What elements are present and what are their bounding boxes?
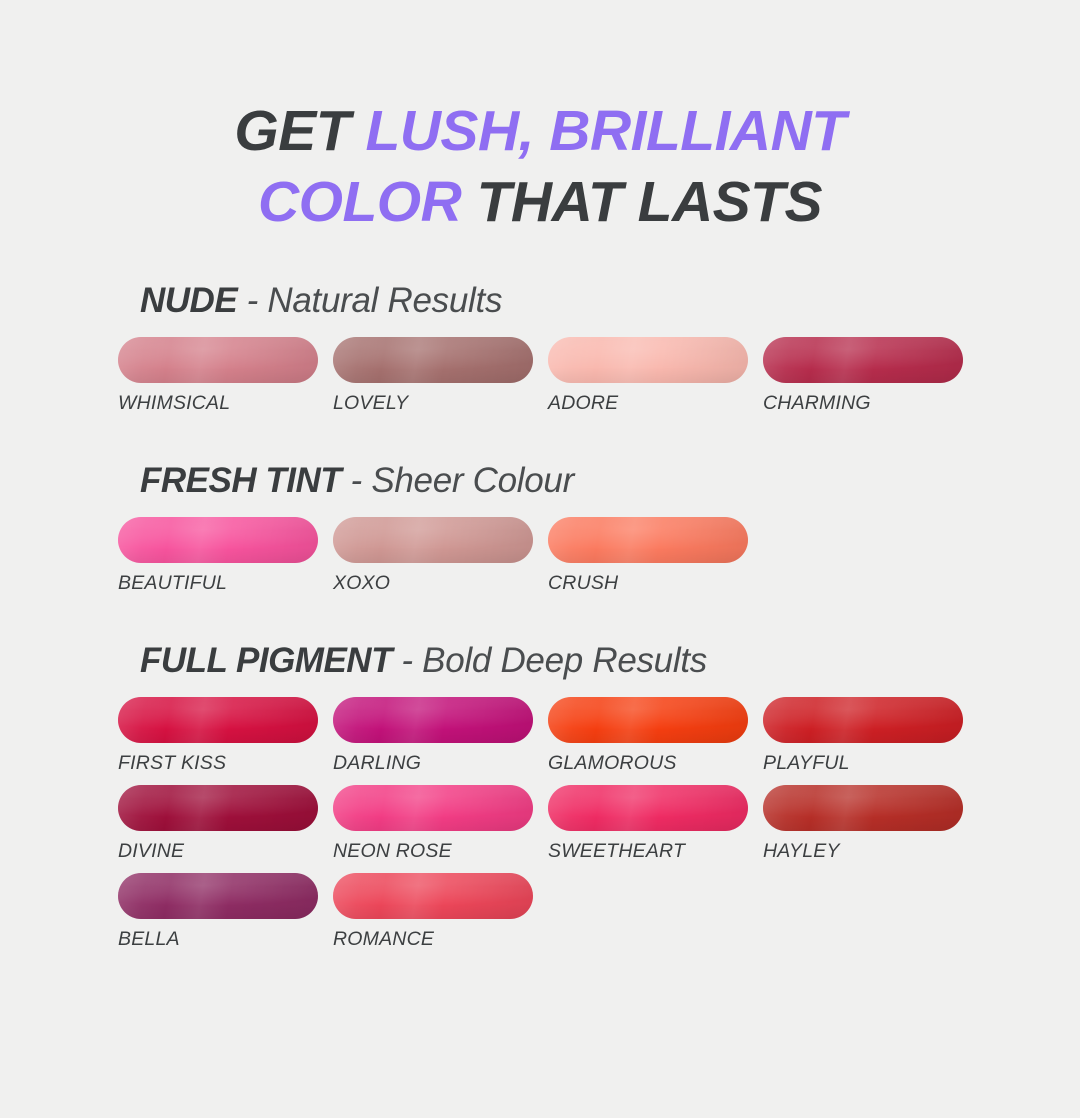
shade-sections: NUDE - Natural Results WHIMSICAL LOVELY … xyxy=(0,281,1080,961)
swatch-label: GLAMOROUS xyxy=(548,752,748,775)
swatch-chip[interactable] xyxy=(548,337,748,383)
swatch-cell[interactable]: NEON ROSE xyxy=(333,785,533,873)
swatch-cell[interactable]: ADORE xyxy=(548,337,748,425)
swatch-chip[interactable] xyxy=(118,337,318,383)
swatch-cell[interactable]: CRUSH xyxy=(548,517,748,605)
swatch-chip[interactable] xyxy=(548,517,748,563)
page-title: GET LUSH, BRILLIANT COLOR THAT LASTS xyxy=(0,38,1080,239)
swatch-label: BELLA xyxy=(118,928,318,951)
swatch-grid-full-pigment: FIRST KISS DARLING GLAMOROUS PLAYFUL DIV… xyxy=(118,697,1080,961)
swatch-cell[interactable]: CHARMING xyxy=(763,337,963,425)
swatch-cell[interactable]: SWEETHEART xyxy=(548,785,748,873)
swatch-label: PLAYFUL xyxy=(763,752,963,775)
section-subtitle-full-pigment: - Bold Deep Results xyxy=(392,641,707,680)
headline-text-get: GET xyxy=(234,99,365,163)
swatch-cell[interactable]: PLAYFUL xyxy=(763,697,963,785)
swatch-label: NEON ROSE xyxy=(333,840,533,863)
swatch-label: LOVELY xyxy=(333,392,533,415)
swatch-cell[interactable]: GLAMOROUS xyxy=(548,697,748,785)
swatch-chip[interactable] xyxy=(333,873,533,919)
swatch-grid-nude: WHIMSICAL LOVELY ADORE CHARMING xyxy=(118,337,1080,425)
swatch-chip[interactable] xyxy=(118,517,318,563)
swatch-label: ADORE xyxy=(548,392,748,415)
swatch-cell[interactable]: DIVINE xyxy=(118,785,318,873)
shade-chart-page: GET LUSH, BRILLIANT COLOR THAT LASTS NUD… xyxy=(0,38,1080,1118)
swatch-label: CHARMING xyxy=(763,392,963,415)
section-subtitle-fresh-tint: - Sheer Colour xyxy=(341,461,574,500)
swatch-chip[interactable] xyxy=(333,697,533,743)
swatch-chip[interactable] xyxy=(118,697,318,743)
swatch-chip[interactable] xyxy=(333,337,533,383)
swatch-label: WHIMSICAL xyxy=(118,392,318,415)
swatch-cell[interactable]: LOVELY xyxy=(333,337,533,425)
swatch-cell[interactable]: BEAUTIFUL xyxy=(118,517,318,605)
swatch-label: CRUSH xyxy=(548,572,748,595)
section-nude: NUDE - Natural Results WHIMSICAL LOVELY … xyxy=(118,281,1080,425)
swatch-label: ROMANCE xyxy=(333,928,533,951)
headline-line-2: COLOR THAT LASTS xyxy=(70,167,1010,238)
section-name-fresh-tint: FRESH TINT xyxy=(140,461,341,500)
headline-text-that-lasts: THAT LASTS xyxy=(461,170,822,234)
swatch-cell[interactable]: XOXO xyxy=(333,517,533,605)
section-title-full-pigment: FULL PIGMENT - Bold Deep Results xyxy=(140,641,1080,681)
section-full-pigment: FULL PIGMENT - Bold Deep Results FIRST K… xyxy=(118,641,1080,961)
section-name-full-pigment: FULL PIGMENT xyxy=(140,641,392,680)
swatch-label: HAYLEY xyxy=(763,840,963,863)
swatch-cell[interactable]: HAYLEY xyxy=(763,785,963,873)
swatch-cell[interactable]: BELLA xyxy=(118,873,318,961)
swatch-label: XOXO xyxy=(333,572,533,595)
swatch-cell[interactable]: FIRST KISS xyxy=(118,697,318,785)
headline-accent-lush-brilliant: LUSH, BRILLIANT xyxy=(365,99,845,163)
swatch-label: FIRST KISS xyxy=(118,752,318,775)
swatch-chip[interactable] xyxy=(548,785,748,831)
section-subtitle-nude: - Natural Results xyxy=(237,281,502,320)
section-title-fresh-tint: FRESH TINT - Sheer Colour xyxy=(140,461,1080,501)
swatch-label: DARLING xyxy=(333,752,533,775)
swatch-label: DIVINE xyxy=(118,840,318,863)
swatch-chip[interactable] xyxy=(763,785,963,831)
headline-accent-color: COLOR xyxy=(258,170,461,234)
swatch-label: BEAUTIFUL xyxy=(118,572,318,595)
swatch-chip[interactable] xyxy=(763,337,963,383)
swatch-cell[interactable]: ROMANCE xyxy=(333,873,533,961)
swatch-chip[interactable] xyxy=(763,697,963,743)
swatch-chip[interactable] xyxy=(118,785,318,831)
section-fresh-tint: FRESH TINT - Sheer Colour BEAUTIFUL XOXO… xyxy=(118,461,1080,605)
section-title-nude: NUDE - Natural Results xyxy=(140,281,1080,321)
swatch-chip[interactable] xyxy=(548,697,748,743)
swatch-cell[interactable]: WHIMSICAL xyxy=(118,337,318,425)
headline-line-1: GET LUSH, BRILLIANT xyxy=(70,96,1010,167)
swatch-cell[interactable]: DARLING xyxy=(333,697,533,785)
section-name-nude: NUDE xyxy=(140,281,237,320)
swatch-chip[interactable] xyxy=(118,873,318,919)
swatch-label: SWEETHEART xyxy=(548,840,748,863)
swatch-chip[interactable] xyxy=(333,517,533,563)
swatch-chip[interactable] xyxy=(333,785,533,831)
swatch-grid-fresh-tint: BEAUTIFUL XOXO CRUSH xyxy=(118,517,1080,605)
